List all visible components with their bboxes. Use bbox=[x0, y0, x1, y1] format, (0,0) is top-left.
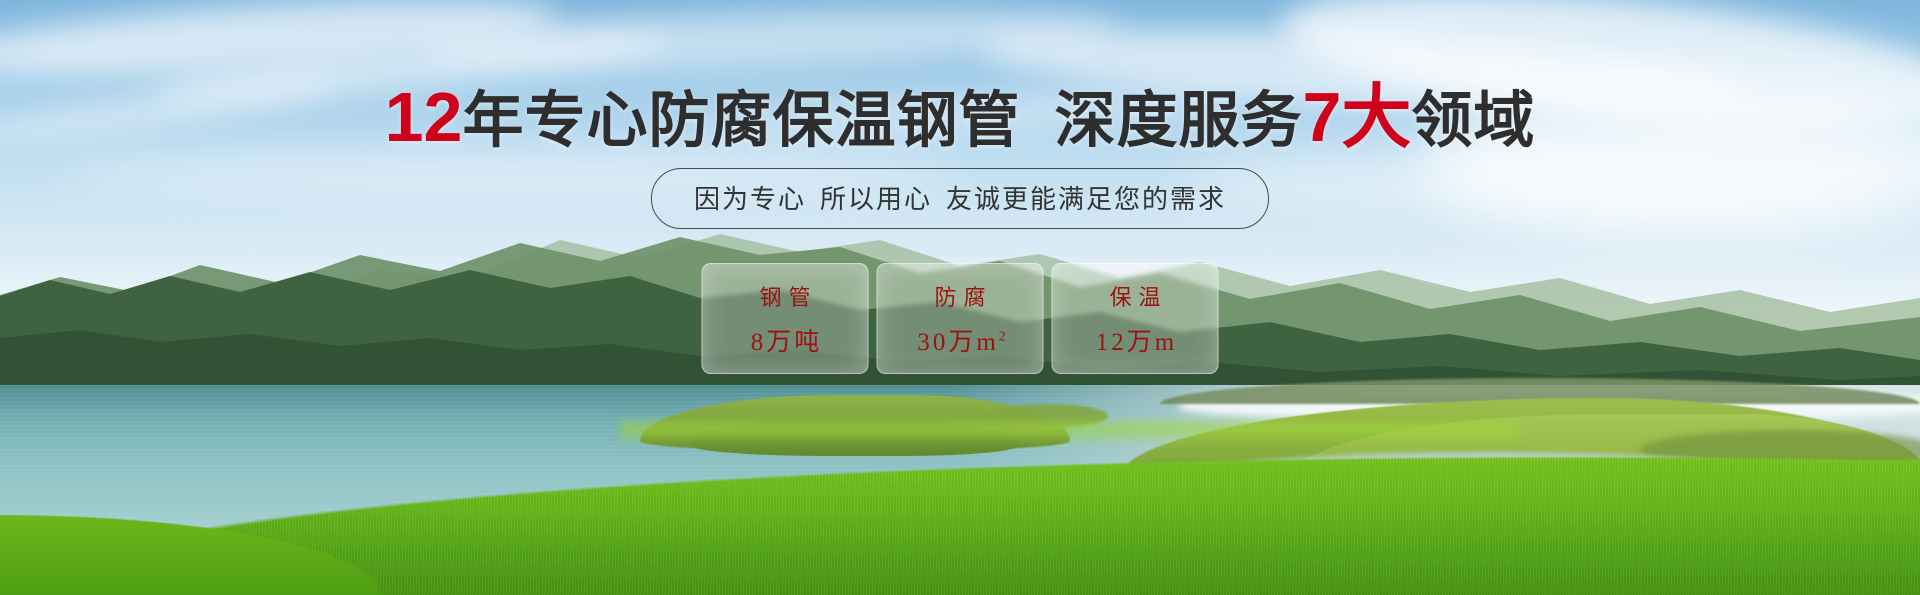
stat-card-anticorrosion: 防腐 30万m2 bbox=[877, 263, 1044, 374]
subtitle-segment-1: 因为专心 bbox=[694, 184, 806, 214]
headline-fields-count: 7大 bbox=[1302, 78, 1411, 156]
stat-card-steel-pipe: 钢管 8万吨 bbox=[702, 263, 869, 374]
stat-card-value-base: 30万m bbox=[917, 329, 998, 356]
stat-card-value: 30万m2 bbox=[914, 322, 1005, 358]
stat-card-title: 钢管 bbox=[752, 280, 817, 312]
grass-foreground-left bbox=[0, 475, 420, 595]
stat-card-value: 8万吨 bbox=[748, 322, 823, 358]
banner-headline: 12年专心防腐保温钢管深度服务7大领域 bbox=[0, 82, 1920, 152]
headline-years-number: 12 bbox=[385, 78, 463, 156]
stat-card-title: 防腐 bbox=[927, 280, 992, 312]
promo-banner: 12年专心防腐保温钢管深度服务7大领域 因为专心所以用心友诚更能满足您的需求 钢… bbox=[0, 0, 1920, 595]
stat-card-value-superscript: 2 bbox=[999, 328, 1006, 343]
stat-card-insulation: 保温 12万m bbox=[1052, 263, 1219, 374]
headline-fields-text: 领域 bbox=[1411, 86, 1535, 154]
subtitle-segment-3: 友诚更能满足您的需求 bbox=[946, 184, 1226, 214]
stat-card-group: 钢管 8万吨 防腐 30万m2 保温 12万m bbox=[702, 263, 1219, 374]
subtitle-segment-2: 所以用心 bbox=[820, 184, 932, 214]
headline-service-text: 深度服务 bbox=[1054, 86, 1302, 154]
stat-card-title: 保温 bbox=[1102, 280, 1167, 312]
stat-card-value: 12万m bbox=[1093, 322, 1177, 358]
banner-subtitle-pill: 因为专心所以用心友诚更能满足您的需求 bbox=[651, 168, 1269, 229]
headline-main-text: 年专心防腐保温钢管 bbox=[462, 86, 1020, 154]
